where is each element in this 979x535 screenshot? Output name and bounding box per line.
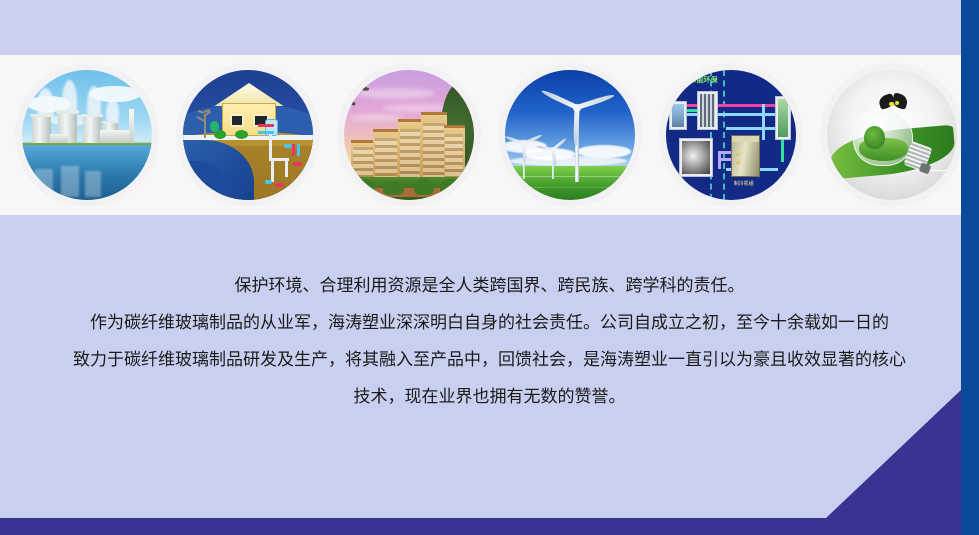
butterfly-icon bbox=[879, 93, 908, 111]
circle-wind-turbines[interactable] bbox=[505, 70, 635, 200]
geothermal-heat-pump-diagram-image bbox=[183, 70, 313, 200]
company-statement: 保护环境、合理利用资源是全人类跨国界、跨民族、跨学科的责任。 作为碳纤维玻璃制品… bbox=[0, 268, 979, 416]
circle-power-plant[interactable] bbox=[22, 70, 152, 200]
residential-apartment-complex-image bbox=[344, 70, 474, 200]
statement-line-1: 保护环境、合理利用资源是全人类跨国界、跨民族、跨学科的责任。 bbox=[0, 268, 979, 305]
wind-turbine-farm-image bbox=[505, 70, 635, 200]
circle-residential[interactable] bbox=[344, 70, 474, 200]
power-plant-cooling-towers-image bbox=[22, 70, 152, 200]
schematic-chiller-label: 制冷机组 bbox=[734, 182, 754, 187]
eco-energy-image-strip: 节能环保 bbox=[0, 55, 979, 215]
bottom-accent-bar bbox=[0, 518, 979, 535]
hvac-chiller-schematic-image: 节能环保 bbox=[666, 70, 796, 200]
circle-eco-bulb[interactable] bbox=[827, 70, 957, 200]
eco-light-bulb-image bbox=[827, 70, 957, 200]
right-accent-bar bbox=[961, 0, 979, 535]
circle-hvac-schematic[interactable]: 节能环保 bbox=[666, 70, 796, 200]
circle-geothermal[interactable] bbox=[183, 70, 313, 200]
schematic-heading-label: 节能环保 bbox=[690, 75, 718, 85]
banner-band: 节能环保 bbox=[0, 55, 979, 215]
eco-banner-page: 节能环保 bbox=[0, 0, 979, 535]
statement-line-3: 致力于碳纤维玻璃制品研发及生产，将其融入至产品中，回馈社会，是海涛塑业一直引以为… bbox=[0, 342, 979, 416]
statement-line-2: 作为碳纤维玻璃制品的从业军，海涛塑业深深明白自身的社会责任。公司自成立之初，至今… bbox=[0, 305, 979, 342]
